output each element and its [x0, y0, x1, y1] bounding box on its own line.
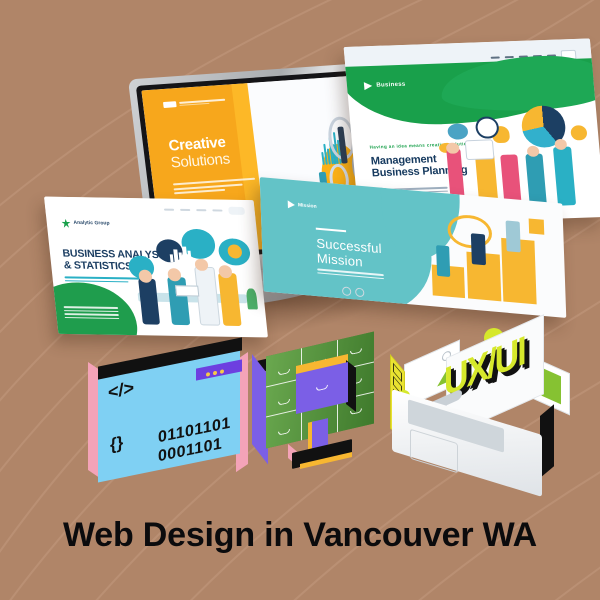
person-head-4 [219, 265, 233, 278]
bas-logo-text: Analytic Group [73, 221, 110, 227]
bas-nav[interactable] [163, 205, 244, 214]
bas-illustration [123, 228, 264, 335]
filing-cabinet-icon[interactable] [252, 342, 382, 482]
code-browser-window-icon[interactable]: </> {} 01101101 0001101 [88, 356, 248, 482]
person-figure-5 [553, 147, 575, 206]
window-dot[interactable] [220, 369, 224, 374]
gear-icon [227, 244, 243, 258]
spark-icon [61, 219, 71, 228]
code-brace-icon: {} [110, 433, 123, 456]
sm-illustration [427, 208, 557, 311]
person-figure-2 [471, 233, 486, 265]
sm-title: Successful Mission [316, 237, 382, 272]
bas-nav-item[interactable] [196, 209, 206, 211]
mbp-logo-text: Business [376, 82, 406, 89]
laptop-shadow [540, 404, 554, 478]
plant-icon [246, 288, 259, 309]
mbp-nav-item[interactable] [491, 56, 500, 58]
bas-logo[interactable]: Analytic Group [61, 219, 110, 229]
window-dot[interactable] [213, 371, 217, 376]
flag-icon [528, 218, 544, 234]
bas-nav-item[interactable] [180, 209, 190, 211]
person-figure-2 [167, 277, 190, 325]
person-figure-4 [218, 273, 242, 325]
goal-ring-icon [447, 213, 492, 250]
person-head-2 [167, 268, 181, 281]
bas-blob-text-lines [64, 306, 120, 321]
business-analysis-statistics-card[interactable]: Analytic Group BUSINESS ANALYSIS & STATI… [44, 197, 268, 338]
window-dot[interactable] [206, 372, 210, 377]
creative-heading: Creative Solutions [168, 132, 271, 172]
sm-pagination-dots[interactable] [342, 286, 365, 297]
bar-chart-graphic [169, 246, 199, 263]
person-figure [138, 278, 160, 324]
coin-icon [570, 125, 587, 140]
bas-nav-item[interactable] [164, 208, 174, 210]
page-title: Web Design in Vancouver WA [0, 516, 600, 555]
document-sheet [464, 139, 495, 161]
ux-ui-laptop-icon[interactable]: UX/UI [382, 330, 572, 490]
play-triangle-icon [364, 82, 373, 90]
play-triangle-icon [288, 200, 295, 209]
laptop-on-table [175, 285, 199, 297]
bas-nav-item[interactable] [212, 209, 222, 211]
speech-bubble [447, 123, 469, 139]
poster-canvas: Creative Solutions Business Having an id [0, 0, 600, 600]
sm-logo-text: Mission [298, 202, 317, 210]
open-drawer-handle[interactable] [316, 385, 328, 392]
bas-nav-button[interactable] [228, 207, 245, 215]
mbp-logo[interactable]: Business [364, 81, 406, 90]
person-figure [436, 245, 451, 277]
person-figure-3 [506, 220, 521, 252]
